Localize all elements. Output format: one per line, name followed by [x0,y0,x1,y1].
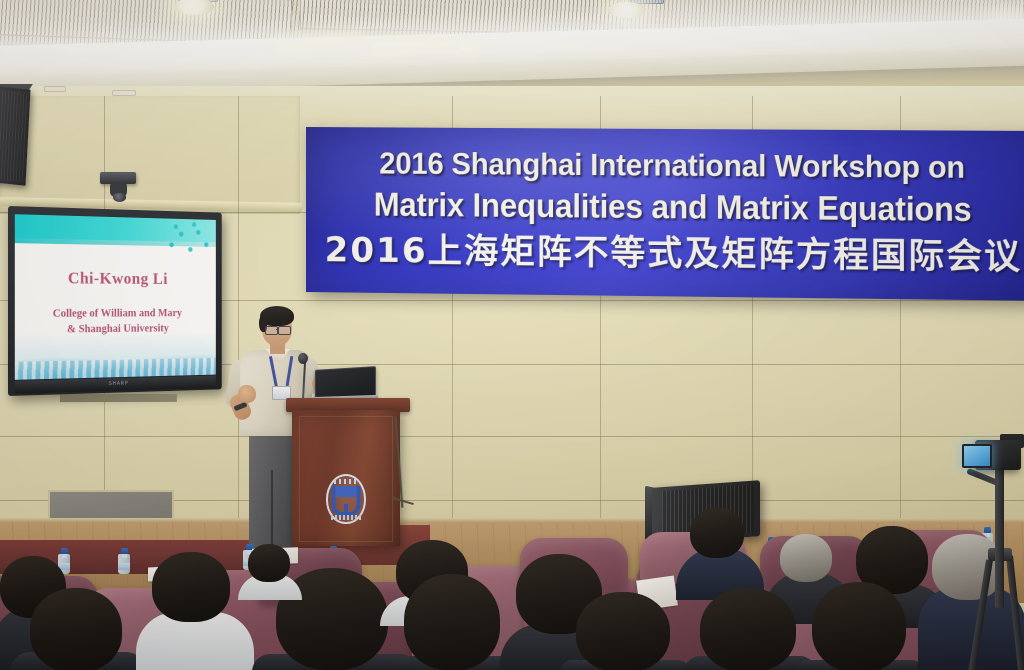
audience-head [152,552,230,622]
wall-recess-panel [0,96,300,214]
bottle-cap [61,548,68,554]
bottle-cap [121,548,128,554]
emblem-bottom-text [331,515,361,520]
audience-head [248,544,290,582]
emblem-top-text [334,479,358,484]
strip-light [460,45,474,51]
display-screen: Chi-Kwong Li College of William and Mary… [15,214,216,380]
banner-text-block: 2016 Shanghai International Workshop on … [306,127,1024,301]
banner-line-2: Matrix Inequalities and Matrix Equations [373,183,971,231]
audience-head [576,592,670,670]
bottle-label [118,563,130,570]
audience-head [404,574,500,670]
security-camera-lens [113,193,126,202]
presenter-left-hand [238,385,256,403]
presentation-display: Chi-Kwong Li College of William and Mary… [8,206,222,396]
recessed-downlight-icon [608,2,646,18]
audience-head [700,588,796,670]
lecture-hall-photo: Chi-Kwong Li College of William and Mary… [0,0,1024,670]
tripod-column [995,468,1004,608]
display-stand [60,394,177,402]
microphone-icon [298,353,308,364]
banner-line-1: 2016 Shanghai International Workshop on [379,143,965,188]
shanghai-university-emblem-icon [326,474,366,524]
wall-seam-vertical [238,96,239,526]
hanging-speaker [0,86,31,186]
lectern-body [292,410,400,546]
slide-title: Chi-Kwong Li [15,268,216,289]
eyeglasses-right-lens-icon [278,326,291,335]
conference-banner: 2016 Shanghai International Workshop on … [306,127,1024,301]
camcorder-lcd-screen[interactable] [962,444,992,468]
eyeglasses-left-lens-icon [265,326,278,335]
bottle-cap [984,527,991,533]
wall-spot-light [44,86,66,92]
audience-head [30,588,122,670]
audience-head [932,534,1004,600]
eyeglasses-bridge [276,329,279,330]
wall-spot-light [112,90,136,96]
display-brand-label: SHARP [109,381,129,387]
slide-leaf-decoration-icon [161,218,214,262]
water-bottle [118,548,130,574]
slide-affiliation-line-1: College of William and Mary [15,306,216,322]
audience-head [780,534,832,582]
banner-line-3-chinese: 2016上海矩阵不等式及矩阵方程国际会议 [325,225,1022,283]
audience-head [812,582,906,670]
audience-head [690,508,744,558]
wall-seam-horizontal [0,436,1024,437]
